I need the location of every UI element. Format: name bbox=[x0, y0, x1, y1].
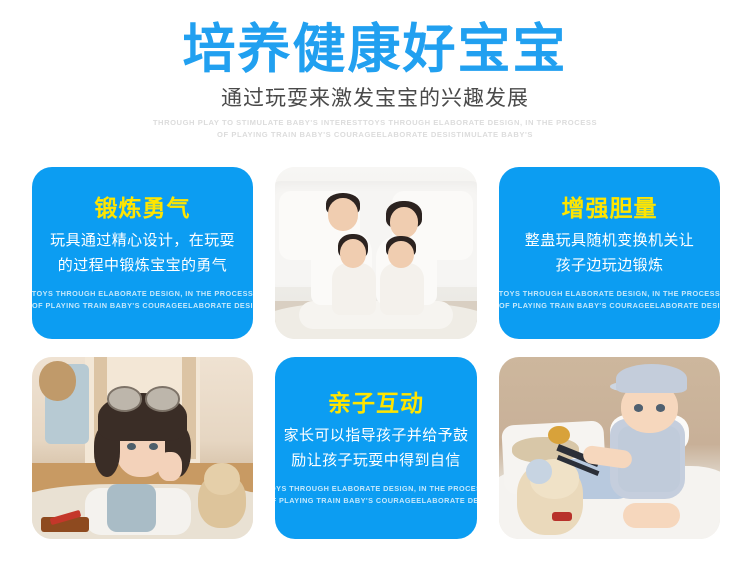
page-title: 培养健康好宝宝 bbox=[0, 22, 750, 78]
child-grey-vest bbox=[107, 484, 156, 531]
photo-baby-toy bbox=[499, 357, 720, 539]
card-body-line-1: 玩具通过精心设计，在玩耍 bbox=[50, 229, 235, 254]
card-heading: 增强胆量 bbox=[562, 195, 658, 223]
card-body-line-2: 的过程中锻炼宝宝的勇气 bbox=[50, 254, 235, 279]
photo-family bbox=[275, 167, 477, 339]
card-english-caption: TOYS THROUGH ELABORATE DESIGN, IN THE PR… bbox=[32, 288, 253, 311]
child-hand bbox=[158, 452, 182, 481]
goggle-lens-left bbox=[107, 386, 142, 411]
card-body: 玩具通过精心设计，在玩耍 的过程中锻炼宝宝的勇气 bbox=[50, 229, 235, 279]
mother-head bbox=[390, 207, 418, 238]
card-heading: 锻炼勇气 bbox=[95, 195, 191, 223]
background-teddy-bear bbox=[39, 361, 77, 401]
card-heading: 亲子互动 bbox=[328, 390, 424, 418]
page-header: 培养健康好宝宝 通过玩耍来激发宝宝的兴趣发展 THROUGH PLAY TO S… bbox=[0, 0, 750, 140]
card-english-line-1: TOYS THROUGH ELABORATE DESIGN, IN THE PR… bbox=[499, 288, 720, 300]
child-eye-right bbox=[149, 443, 158, 450]
photo-family-scene bbox=[275, 167, 477, 339]
page-subtitle: 通过玩耍来激发宝宝的兴趣发展 bbox=[0, 86, 750, 111]
feature-row-top: 锻炼勇气 玩具通过精心设计，在玩耍 的过程中锻炼宝宝的勇气 TOYS THROU… bbox=[32, 167, 720, 339]
photo-aviator-child bbox=[32, 357, 253, 539]
feature-grid: 锻炼勇气 玩具通过精心设计，在玩耍 的过程中锻炼宝宝的勇气 TOYS THROU… bbox=[32, 167, 720, 539]
baby-leg bbox=[623, 503, 680, 528]
header-english-line-1: THROUGH PLAY TO STIMULATE BABY'S INTERES… bbox=[0, 117, 750, 129]
baby-cap bbox=[616, 364, 687, 393]
feature-card-boldness[interactable]: 增强胆量 整蛊玩具随机变换机关让 孩子边玩边锻炼 TOYS THROUGH EL… bbox=[499, 167, 720, 339]
card-body: 家长可以指导孩子并给予鼓 励让孩子玩耍中得到自信 bbox=[284, 424, 469, 474]
card-english-line-2: OF PLAYING TRAIN BABY'S COURAGEELABORATE… bbox=[32, 300, 253, 312]
son-body bbox=[380, 263, 424, 315]
card-body-line-1: 整蛊玩具随机变换机关让 bbox=[525, 229, 694, 254]
header-english-caption: THROUGH PLAY TO STIMULATE BABY'S INTERES… bbox=[0, 117, 750, 141]
card-body: 整蛊玩具随机变换机关让 孩子边玩边锻炼 bbox=[525, 229, 694, 279]
plush-dog-red-detail bbox=[552, 512, 572, 521]
baby-eye-right bbox=[656, 404, 665, 411]
family-legs bbox=[299, 301, 453, 329]
card-body-line-1: 家长可以指导孩子并给予鼓 bbox=[284, 424, 469, 449]
child-eye-left bbox=[127, 443, 136, 450]
card-body-line-2: 励让孩子玩耍中得到自信 bbox=[284, 449, 469, 474]
baby-eye-left bbox=[634, 404, 643, 411]
plush-dog-hat bbox=[526, 459, 553, 484]
card-english-line-2: OF PLAYING TRAIN BABY'S COURAGEELABORATE… bbox=[275, 495, 477, 507]
teddy-bear-head bbox=[204, 463, 239, 496]
photo-baby-scene bbox=[499, 357, 720, 539]
daughter-head bbox=[340, 239, 366, 268]
father-head bbox=[328, 198, 358, 231]
feature-card-interaction[interactable]: 亲子互动 家长可以指导孩子并给予鼓 励让孩子玩耍中得到自信 TOYS THROU… bbox=[275, 357, 477, 539]
card-english-line-1: TOYS THROUGH ELABORATE DESIGN, IN THE PR… bbox=[275, 483, 477, 495]
card-body-line-2: 孩子边玩边锻炼 bbox=[525, 254, 694, 279]
pillow-sun-motif bbox=[548, 426, 570, 444]
card-english-line-1: TOYS THROUGH ELABORATE DESIGN, IN THE PR… bbox=[32, 288, 253, 300]
feature-card-courage[interactable]: 锻炼勇气 玩具通过精心设计，在玩耍 的过程中锻炼宝宝的勇气 TOYS THROU… bbox=[32, 167, 253, 339]
photo-aviator-scene bbox=[32, 357, 253, 539]
daughter-body bbox=[332, 263, 376, 315]
feature-row-bottom: 亲子互动 家长可以指导孩子并给予鼓 励让孩子玩耍中得到自信 TOYS THROU… bbox=[32, 357, 720, 539]
header-english-line-2: OF PLAYING TRAIN BABY'S COURAGEELABORATE… bbox=[0, 129, 750, 141]
goggle-lens-right bbox=[145, 386, 180, 411]
card-english-caption: TOYS THROUGH ELABORATE DESIGN, IN THE PR… bbox=[275, 483, 477, 506]
card-english-line-2: OF PLAYING TRAIN BABY'S COURAGEELABORATE… bbox=[499, 300, 720, 312]
card-english-caption: TOYS THROUGH ELABORATE DESIGN, IN THE PR… bbox=[499, 288, 720, 311]
